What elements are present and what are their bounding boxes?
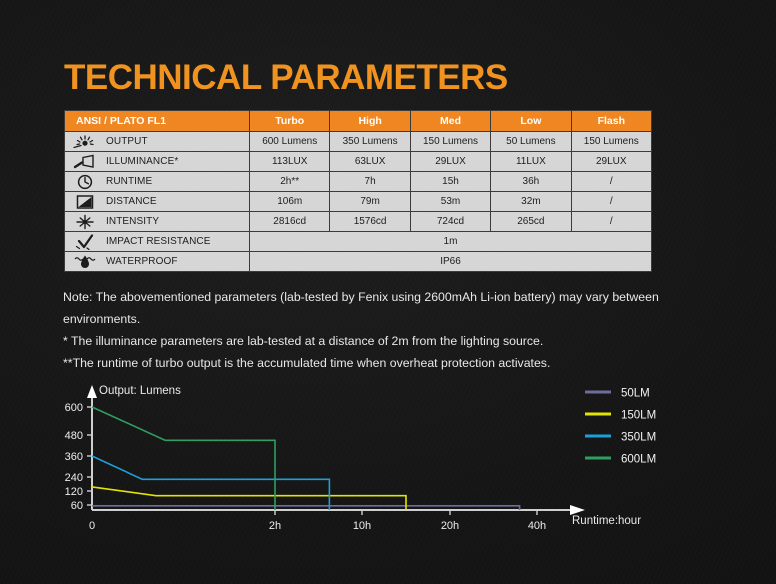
y-tick-label: 480 xyxy=(65,430,83,442)
chart-tick-labels: 6004803602401206002h10h20h40h xyxy=(65,402,547,532)
row-label-intensity: INTENSITY xyxy=(65,212,249,231)
cell-distance-med: 53m xyxy=(411,192,490,211)
table-row: OUTPUT 600 Lumens 350 Lumens 150 Lumens … xyxy=(65,132,651,151)
row-label-impact-resistance: IMPACT RESISTANCE xyxy=(65,232,249,251)
cell-intensity-med: 724cd xyxy=(411,212,490,231)
y-tick-label: 240 xyxy=(65,472,83,484)
row-label-text: DISTANCE xyxy=(106,196,157,207)
cell-runtime-high: 7h xyxy=(330,172,409,191)
light-cone-icon xyxy=(70,153,100,170)
header-high: High xyxy=(330,111,409,131)
cell-illuminance-high: 63LUX xyxy=(330,152,409,171)
table-row: DISTANCE 106m 79m 53m 32m / xyxy=(65,192,651,211)
clock-icon xyxy=(70,173,100,190)
runtime-output-chart: 6004803602401206002h10h20h40h 50LM150LM3… xyxy=(55,378,755,548)
cell-output-low: 50 Lumens xyxy=(491,132,570,151)
cell-distance-high: 79m xyxy=(330,192,409,211)
cell-runtime-flash: / xyxy=(572,172,651,191)
chart-y-axis-label: Output: Lumens xyxy=(99,385,181,397)
row-label-text: INTENSITY xyxy=(106,216,159,227)
row-label-text: ILLUMINANCE* xyxy=(106,156,178,167)
cell-waterproof-value: IP66 xyxy=(250,252,651,271)
note-line-2: * The illuminance parameters are lab-tes… xyxy=(63,330,693,352)
crosshair-intensity-icon xyxy=(70,213,100,230)
slide-canvas: TECHNICAL PARAMETERS ANSI / PLATO FL1 Tu… xyxy=(0,0,776,584)
series-line-350lm xyxy=(92,456,329,510)
cell-intensity-turbo: 2816cd xyxy=(250,212,329,231)
specifications-table: ANSI / PLATO FL1 Turbo High Med Low Flas… xyxy=(64,110,652,272)
cell-illuminance-flash: 29LUX xyxy=(572,152,651,171)
row-label-runtime: RUNTIME xyxy=(65,172,249,191)
legend-label-600lm: 600LM xyxy=(621,454,656,466)
x-tick-label: 40h xyxy=(528,520,546,532)
x-tick-label: 2h xyxy=(269,520,281,532)
header-flash: Flash xyxy=(572,111,651,131)
legend-label-50lm: 50LM xyxy=(621,388,650,400)
cell-impact-resistance-value: 1m xyxy=(250,232,651,251)
y-tick-label: 120 xyxy=(65,486,83,498)
x-tick-label: 10h xyxy=(353,520,371,532)
chart-series-lines xyxy=(92,407,520,510)
cell-runtime-low: 36h xyxy=(491,172,570,191)
header-low: Low xyxy=(491,111,570,131)
cell-illuminance-low: 11LUX xyxy=(491,152,570,171)
table-row: INTENSITY 2816cd 1576cd 724cd 265cd / xyxy=(65,212,651,231)
cell-output-high: 350 Lumens xyxy=(330,132,409,151)
legend-label-150lm: 150LM xyxy=(621,410,656,422)
cell-runtime-med: 15h xyxy=(411,172,490,191)
cell-distance-flash: / xyxy=(572,192,651,211)
chart-svg: 6004803602401206002h10h20h40h 50LM150LM3… xyxy=(55,378,755,548)
y-tick-label: 60 xyxy=(71,500,83,512)
note-line-1: Note: The abovementioned parameters (lab… xyxy=(63,286,663,330)
table-row: ILLUMINANCE* 113LUX 63LUX 29LUX 11LUX 29… xyxy=(65,152,651,171)
sunburst-icon xyxy=(70,133,100,150)
row-label-illuminance: ILLUMINANCE* xyxy=(65,152,249,171)
cell-intensity-low: 265cd xyxy=(491,212,570,231)
row-label-text: WATERPROOF xyxy=(106,256,178,267)
series-line-600lm xyxy=(92,407,275,510)
cell-illuminance-med: 29LUX xyxy=(411,152,490,171)
page-title: TECHNICAL PARAMETERS xyxy=(64,58,508,98)
note-line-3: **The runtime of turbo output is the acc… xyxy=(63,352,693,374)
table-row: IMPACT RESISTANCE 1m xyxy=(65,232,651,251)
chart-legend: 50LM150LM350LM600LM xyxy=(585,388,656,466)
row-label-waterproof: WATERPROOF xyxy=(65,252,249,271)
cell-runtime-turbo: 2h** xyxy=(250,172,329,191)
legend-label-350lm: 350LM xyxy=(621,432,656,444)
notes-block: Note: The abovementioned parameters (lab… xyxy=(63,286,693,374)
row-label-text: IMPACT RESISTANCE xyxy=(106,236,211,247)
x-tick-label: 0 xyxy=(89,520,95,532)
row-label-text: OUTPUT xyxy=(106,136,148,147)
cell-distance-turbo: 106m xyxy=(250,192,329,211)
y-tick-label: 600 xyxy=(65,402,83,414)
impact-arrow-icon xyxy=(70,233,100,250)
cell-output-turbo: 600 Lumens xyxy=(250,132,329,151)
row-label-distance: DISTANCE xyxy=(65,192,249,211)
row-label-text: RUNTIME xyxy=(106,176,152,187)
row-label-output: OUTPUT xyxy=(65,132,249,151)
waterdrop-icon xyxy=(70,253,100,270)
chart-x-axis-label: Runtime:hour xyxy=(572,515,641,527)
cell-illuminance-turbo: 113LUX xyxy=(250,152,329,171)
table-row: WATERPROOF IP66 xyxy=(65,252,651,271)
cell-intensity-flash: / xyxy=(572,212,651,231)
beam-distance-icon xyxy=(70,193,100,210)
cell-output-med: 150 Lumens xyxy=(411,132,490,151)
cell-output-flash: 150 Lumens xyxy=(572,132,651,151)
table-header-row: ANSI / PLATO FL1 Turbo High Med Low Flas… xyxy=(65,111,651,131)
x-tick-label: 20h xyxy=(441,520,459,532)
cell-intensity-high: 1576cd xyxy=(330,212,409,231)
y-tick-label: 360 xyxy=(65,451,83,463)
table-row: RUNTIME 2h** 7h 15h 36h / xyxy=(65,172,651,191)
header-ansi-plato: ANSI / PLATO FL1 xyxy=(65,111,249,131)
header-turbo: Turbo xyxy=(250,111,329,131)
cell-distance-low: 32m xyxy=(491,192,570,211)
header-med: Med xyxy=(411,111,490,131)
